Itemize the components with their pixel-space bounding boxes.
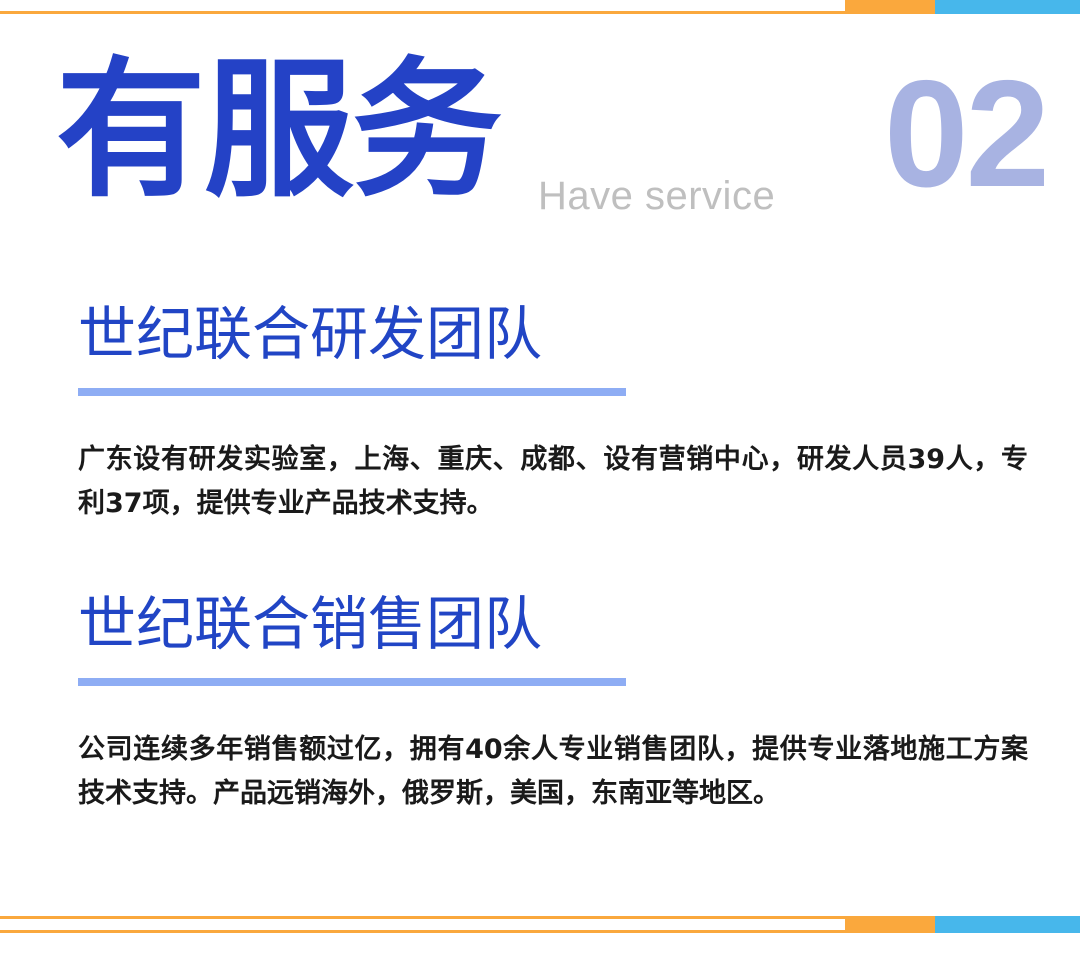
top-accent-bar <box>0 0 1080 14</box>
section-body-sales: 公司连续多年销售额过亿，拥有40余人专业销售团队，提供专业落地施工方案技术支持。… <box>78 728 1028 816</box>
bottom-accent-bar <box>0 914 1080 934</box>
heading-underline-research <box>78 388 626 396</box>
page-subtitle: Have service <box>538 172 775 220</box>
section-number-badge: 02 <box>884 58 1047 210</box>
section-sales-team: 世纪联合销售团队 公司连续多年销售额过亿，拥有40余人专业销售团队，提供专业落地… <box>0 586 1080 662</box>
section-heading-sales: 世纪联合销售团队 <box>78 586 1080 662</box>
bottom-accent-line-bottom <box>0 930 847 933</box>
bottom-accent-block-orange <box>845 916 935 933</box>
top-accent-line-orange <box>0 11 847 14</box>
heading-underline-sales <box>78 678 626 686</box>
bottom-accent-block-blue <box>935 916 1080 933</box>
section-body-research: 广东设有研发实验室，上海、重庆、成都、设有营销中心，研发人员39人，专利37项，… <box>78 438 1028 526</box>
top-accent-block-blue <box>935 0 1080 14</box>
page-title: 有服务 <box>56 42 500 220</box>
section-research-team: 世纪联合研发团队 广东设有研发实验室，上海、重庆、成都、设有营销中心，研发人员3… <box>0 296 1080 372</box>
section-heading-research: 世纪联合研发团队 <box>78 296 1080 372</box>
slide-header: 有服务 Have service 02 <box>0 42 1080 242</box>
bottom-accent-line-top <box>0 916 847 919</box>
top-accent-block-orange <box>845 0 935 14</box>
